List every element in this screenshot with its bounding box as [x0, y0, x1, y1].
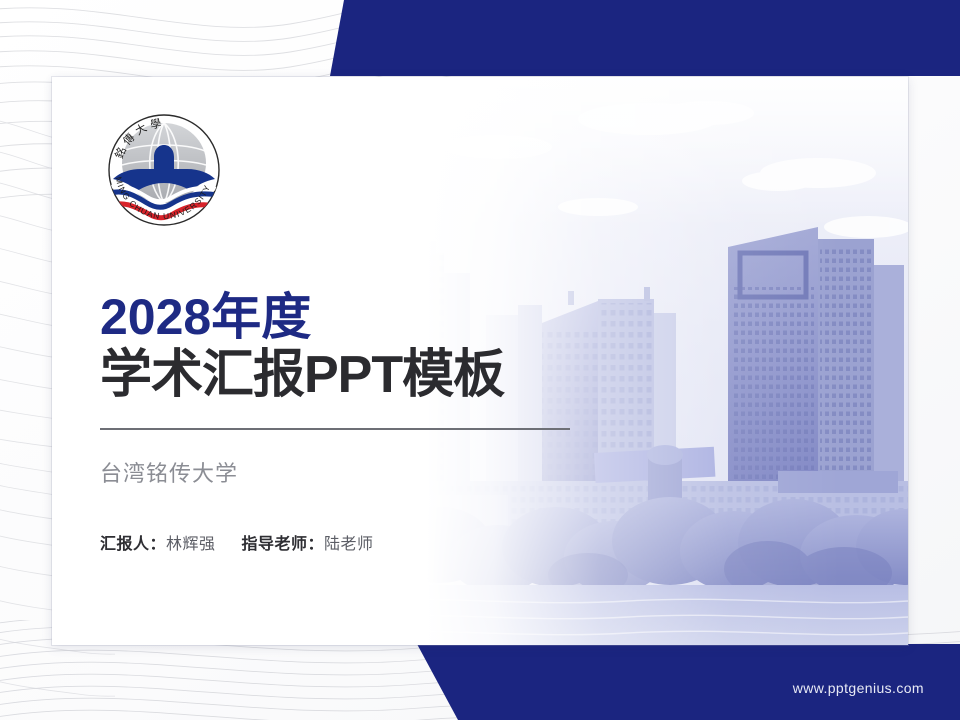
credits-line: 汇报人：林辉强指导老师：陆老师: [100, 530, 570, 554]
title-year: 2028年度: [100, 291, 570, 344]
advisor-label: 指导老师：: [242, 536, 325, 553]
presenter-label: 汇报人：: [100, 536, 166, 553]
top-right-blue-wedge: [330, 0, 960, 76]
content-card: 銘 傳 大 學 MING CHUAN UNIVERSITY 2028年度 学术汇…: [52, 77, 908, 645]
title-divider-rule: [100, 428, 570, 430]
title-main: 学术汇报PPT模板: [100, 346, 570, 404]
footer-website-url[interactable]: www.pptgenius.com: [793, 680, 924, 696]
presenter-name: 林辉强: [166, 536, 216, 553]
university-logo: 銘 傳 大 學 MING CHUAN UNIVERSITY: [101, 107, 227, 233]
title-text-block: 2028年度 学术汇报PPT模板 台湾铭传大学 汇报人：林辉强指导老师：陆老师: [100, 291, 570, 554]
advisor-name: 陆老师: [324, 536, 374, 553]
organization-name: 台湾铭传大学: [100, 456, 570, 488]
slide-canvas: 銘 傳 大 學 MING CHUAN UNIVERSITY 2028年度 学术汇…: [0, 0, 960, 720]
